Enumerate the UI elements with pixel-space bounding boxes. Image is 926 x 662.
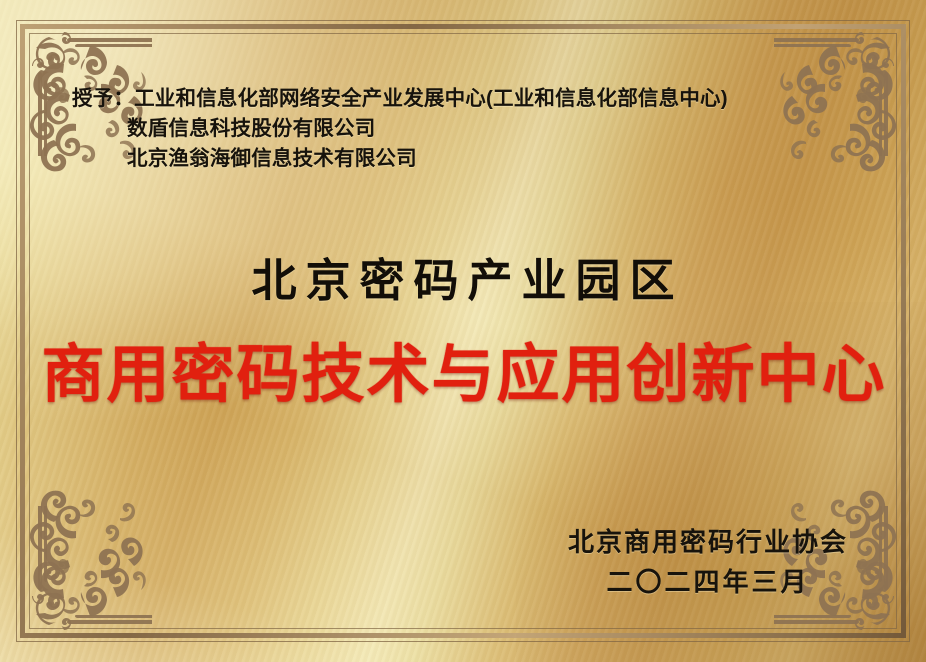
- plaque-content: 授予：工业和信息化部网络安全产业发展中心(工业和信息化部信息中心) 数盾信息科技…: [0, 0, 926, 662]
- issuing-organization: 北京商用密码行业协会: [568, 522, 848, 562]
- signature-block: 北京商用密码行业协会 二〇二四年三月: [568, 522, 848, 602]
- page-title-highlight: 商用密码技术与应用创新中心: [0, 340, 926, 411]
- award-plaque: 授予：工业和信息化部网络安全产业发展中心(工业和信息化部信息中心) 数盾信息科技…: [0, 0, 926, 662]
- awardee-line-3: 北京渔翁海御信息技术有限公司: [72, 144, 728, 174]
- awardee-line-2: 数盾信息科技股份有限公司: [72, 114, 728, 144]
- issue-date: 二〇二四年三月: [568, 562, 848, 602]
- awardee-line-1: 授予：工业和信息化部网络安全产业发展中心(工业和信息化部信息中心): [72, 84, 728, 114]
- page-title: 北京密码产业园区: [0, 258, 926, 303]
- awardee-block: 授予：工业和信息化部网络安全产业发展中心(工业和信息化部信息中心) 数盾信息科技…: [72, 84, 728, 174]
